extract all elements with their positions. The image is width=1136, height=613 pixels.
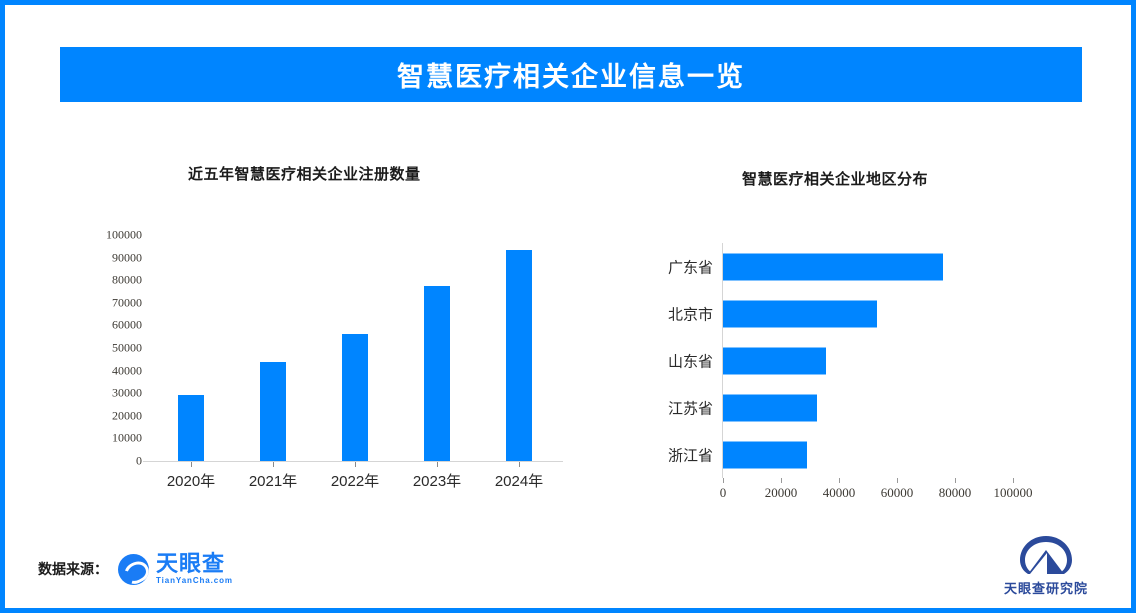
x-axis-line: [143, 461, 563, 462]
research-institute-name: 天眼查研究院: [999, 578, 1093, 597]
research-institute-icon: [1017, 534, 1075, 576]
y-tick-label: 10000: [112, 431, 142, 446]
right-chart-title: 智慧医疗相关企业地区分布: [742, 168, 928, 189]
category-label: 北京市: [627, 303, 713, 324]
tianyancha-logo: 天眼查 TianYanCha.com: [118, 553, 233, 585]
y-tick-label: 100000: [106, 228, 142, 243]
category-labels: 广东省北京市山东省江苏省浙江省: [625, 235, 713, 478]
category-label: 山东省: [627, 350, 713, 371]
bar: [723, 300, 877, 327]
data-source: 数据来源： 天眼查 TianYanCha.com: [38, 553, 233, 585]
category-label: 广东省: [627, 256, 713, 277]
x-tick-label: 100000: [994, 485, 1033, 501]
plot-area: [150, 235, 560, 461]
infographic-page: 智慧医疗相关企业信息一览 近五年智慧医疗相关企业注册数量 智慧医疗相关企业地区分…: [0, 0, 1136, 613]
bar: [723, 253, 943, 280]
x-tick-label: 20000: [765, 485, 798, 501]
x-tick-label: 60000: [881, 485, 914, 501]
bar: [342, 334, 368, 461]
registrations-bar-chart: 0100002000030000400005000060000700008000…: [75, 220, 575, 505]
x-tick: [955, 478, 956, 483]
regional-distribution-bar-chart: 广东省北京市山东省江苏省浙江省 020000400006000080000100…: [625, 235, 1085, 505]
research-institute-logo: 天眼查研究院: [999, 534, 1093, 597]
category-label: 江苏省: [627, 397, 713, 418]
y-tick-label: 40000: [112, 363, 142, 378]
x-tick: [519, 462, 520, 467]
tianyancha-eye-icon: [118, 554, 149, 585]
y-tick-label: 20000: [112, 408, 142, 423]
x-tick: [781, 478, 782, 483]
x-tick-label: 2021年: [249, 470, 297, 491]
page-title: 智慧医疗相关企业信息一览: [397, 55, 745, 94]
y-tick-label: 50000: [112, 341, 142, 356]
bar: [723, 441, 807, 468]
left-chart-title: 近五年智慧医疗相关企业注册数量: [188, 163, 421, 184]
y-tick-label: 30000: [112, 386, 142, 401]
x-tick-label: 0: [720, 485, 727, 501]
x-tick: [273, 462, 274, 467]
x-tick-label: 40000: [823, 485, 856, 501]
data-source-label: 数据来源：: [38, 559, 108, 579]
x-tick-label: 80000: [939, 485, 972, 501]
header-banner: 智慧医疗相关企业信息一览: [60, 47, 1082, 102]
x-tick: [839, 478, 840, 483]
bar: [424, 286, 450, 461]
tianyancha-wordmark: 天眼查 TianYanCha.com: [156, 553, 233, 585]
x-tick-label: 2024年: [495, 470, 543, 491]
x-tick: [191, 462, 192, 467]
category-label: 浙江省: [627, 444, 713, 465]
bar: [723, 394, 817, 421]
y-tick-label: 90000: [112, 250, 142, 265]
y-tick-label: 60000: [112, 318, 142, 333]
x-tick: [1013, 478, 1014, 483]
y-tick-label: 70000: [112, 295, 142, 310]
x-tick-label: 2020年: [167, 470, 215, 491]
x-tick-label: 2023年: [413, 470, 461, 491]
x-tick-label: 2022年: [331, 470, 379, 491]
x-tick: [437, 462, 438, 467]
x-tick: [355, 462, 356, 467]
bar: [178, 395, 204, 461]
bar: [506, 250, 532, 461]
bar: [260, 362, 286, 461]
tianyancha-name-cn: 天眼查: [156, 553, 233, 575]
x-tick: [897, 478, 898, 483]
y-axis-labels: 0100002000030000400005000060000700008000…: [75, 220, 145, 476]
x-tick: [723, 478, 724, 483]
bar: [723, 347, 826, 374]
y-tick-label: 80000: [112, 273, 142, 288]
tianyancha-name-en: TianYanCha.com: [156, 577, 233, 585]
y-tick-label: 0: [136, 454, 142, 469]
